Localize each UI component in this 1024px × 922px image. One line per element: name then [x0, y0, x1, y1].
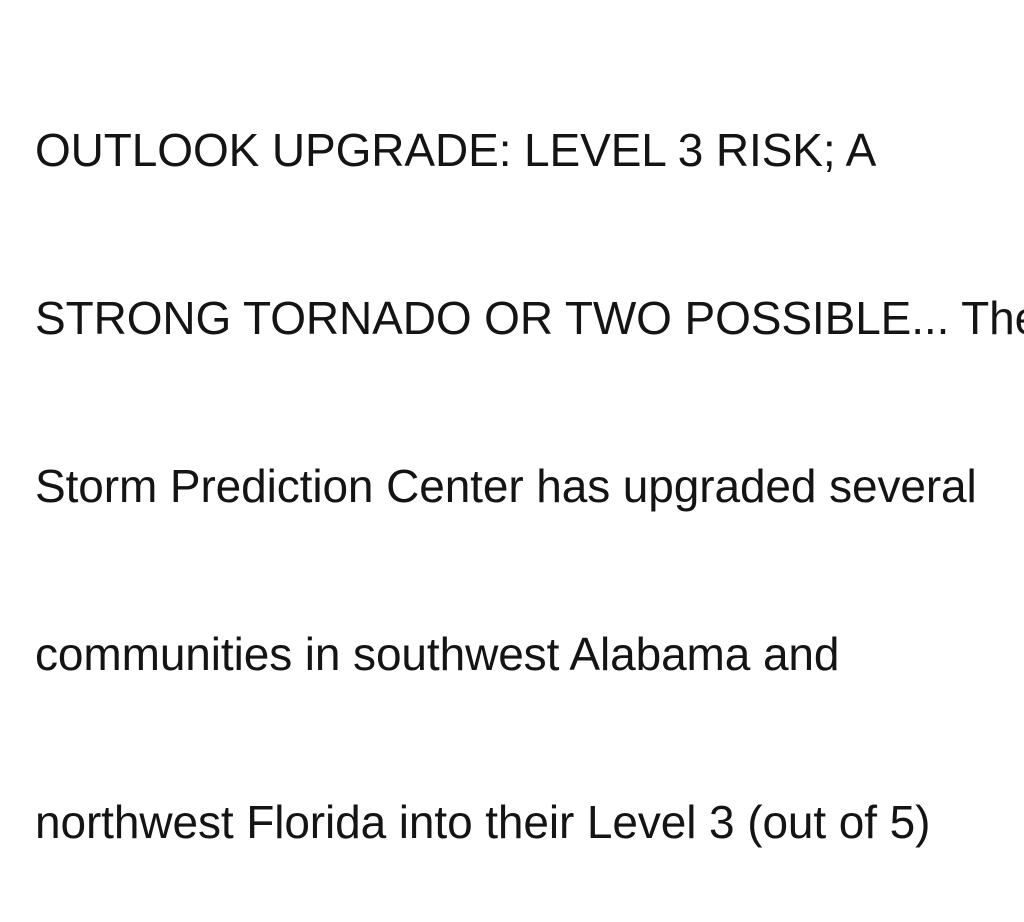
- text-line: communities in southwest Alabama and: [35, 626, 1024, 682]
- text-line: northwest Florida into their Level 3 (ou…: [35, 794, 1024, 850]
- text-line: Storm Prediction Center has upgraded sev…: [35, 458, 1024, 514]
- text-line: OUTLOOK UPGRADE: LEVEL 3 RISK; A: [35, 122, 1024, 178]
- post-viewport: OUTLOOK UPGRADE: LEVEL 3 RISK; A STRONG …: [0, 0, 1024, 922]
- post-body-text[interactable]: OUTLOOK UPGRADE: LEVEL 3 RISK; A STRONG …: [35, 10, 1024, 922]
- text-line: STRONG TORNADO OR TWO POSSIBLE... The: [35, 290, 1024, 346]
